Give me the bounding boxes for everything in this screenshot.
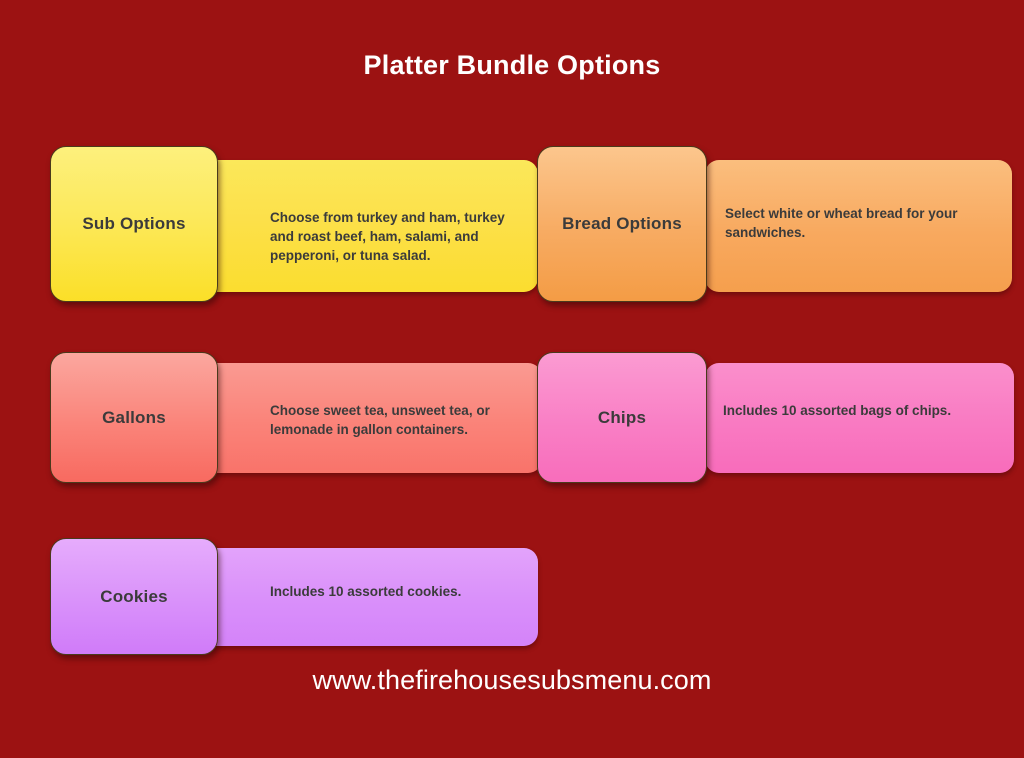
card-description-text: Includes 10 assorted bags of chips. xyxy=(705,363,1014,420)
card-label-text: Bread Options xyxy=(562,214,682,234)
card-label-text: Chips xyxy=(598,408,646,428)
footer-website-url[interactable]: www.thefirehousesubsmenu.com xyxy=(0,665,1024,696)
card-label-text: Gallons xyxy=(102,408,166,428)
card-sub-options[interactable]: Choose from turkey and ham, turkey and r… xyxy=(50,146,490,306)
card-bread-options[interactable]: Select white or wheat bread for your san… xyxy=(537,146,977,306)
card-label-tile[interactable]: Cookies xyxy=(50,538,218,655)
card-description-text: Includes 10 assorted cookies. xyxy=(188,548,538,601)
card-description-panel: Includes 10 assorted cookies. xyxy=(188,548,538,646)
card-description-panel: Includes 10 assorted bags of chips. xyxy=(705,363,1014,473)
card-description-panel: Select white or wheat bread for your san… xyxy=(705,160,1012,292)
card-label-tile[interactable]: Bread Options xyxy=(537,146,707,302)
card-description-panel: Choose sweet tea, unsweet tea, or lemona… xyxy=(188,363,542,473)
card-label-text: Cookies xyxy=(100,587,168,607)
card-description-panel: Choose from turkey and ham, turkey and r… xyxy=(188,160,538,292)
card-description-text: Select white or wheat bread for your san… xyxy=(705,160,1012,242)
card-label-tile[interactable]: Chips xyxy=(537,352,707,483)
card-description-text: Choose sweet tea, unsweet tea, or lemona… xyxy=(188,363,542,439)
card-label-text: Sub Options xyxy=(82,214,185,234)
card-chips[interactable]: Includes 10 assorted bags of chips. Chip… xyxy=(537,352,977,486)
card-description-text: Choose from turkey and ham, turkey and r… xyxy=(188,160,538,265)
card-cookies[interactable]: Includes 10 assorted cookies. Cookies xyxy=(50,538,490,658)
card-label-tile[interactable]: Gallons xyxy=(50,352,218,483)
page-title: Platter Bundle Options xyxy=(0,50,1024,81)
infographic-canvas: Platter Bundle Options Choose from turke… xyxy=(0,0,1024,758)
card-gallons[interactable]: Choose sweet tea, unsweet tea, or lemona… xyxy=(50,352,492,486)
card-label-tile[interactable]: Sub Options xyxy=(50,146,218,302)
